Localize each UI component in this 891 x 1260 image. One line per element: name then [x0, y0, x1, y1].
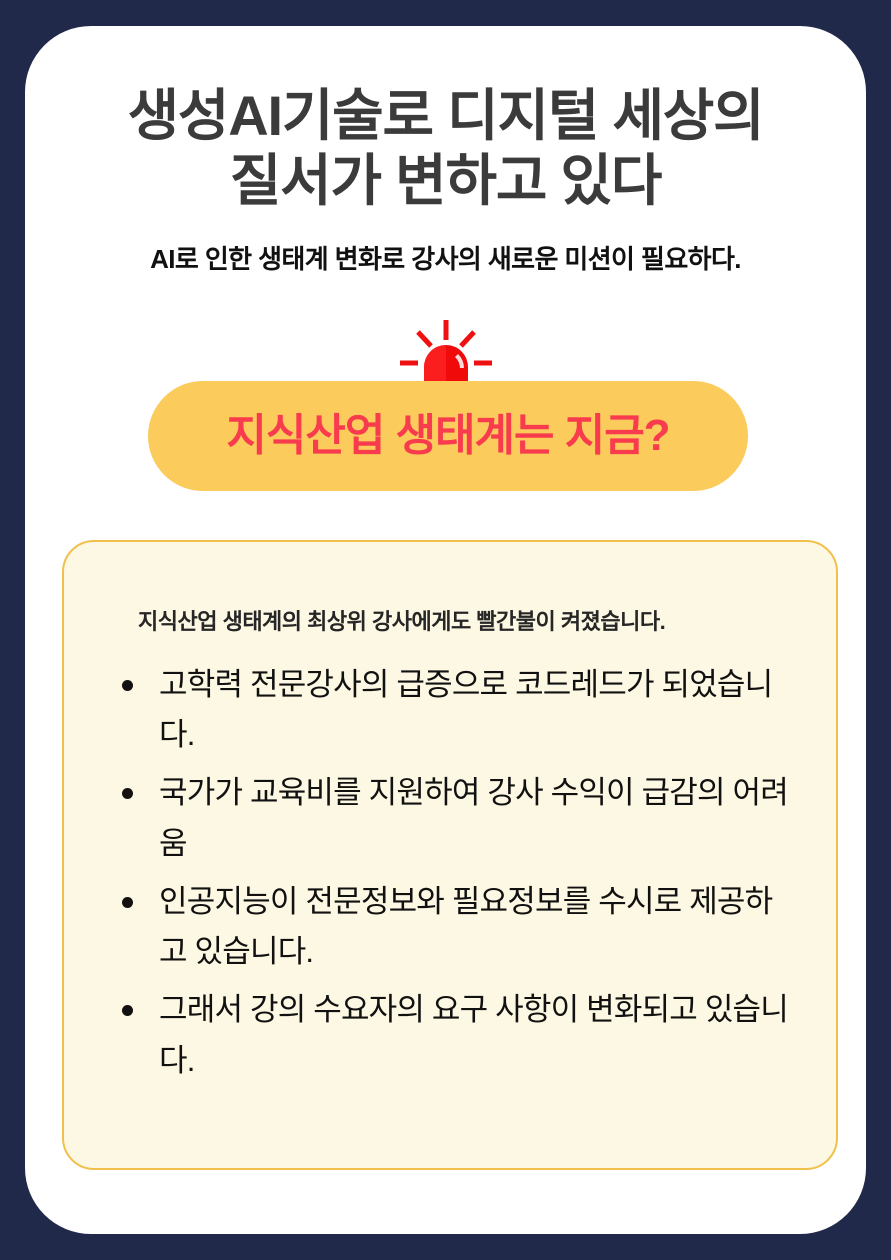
bullet-dot-icon: [122, 680, 133, 691]
list-item-label: 그래서 강의 수요자의 요구 사항이 변화되고 있습니다.: [159, 992, 788, 1077]
poster-page: 생성AI기술로 디지털 세상의 질서가 변하고 있다 AI로 인한 생태계 변화…: [0, 0, 891, 1260]
content-panel: 지식산업 생태계의 최상위 강사에게도 빨간불이 켜졌습니다. 고학력 전문강사…: [62, 540, 838, 1170]
poster-card: 생성AI기술로 디지털 세상의 질서가 변하고 있다 AI로 인한 생태계 변화…: [25, 26, 866, 1234]
bullet-dot-icon: [122, 1005, 133, 1016]
list-item: 고학력 전문강사의 급증으로 코드레드가 되었습니다.: [110, 660, 800, 760]
status-badge-label: 지식산업 생태계는 지금?: [226, 414, 669, 458]
page-subtitle: AI로 인한 생태계 변화로 강사의 새로운 미션이 필요하다.: [25, 239, 866, 276]
bullet-dot-icon: [122, 897, 133, 908]
list-item: 인공지능이 전문정보와 필요정보를 수시로 제공하고 있습니다.: [110, 877, 800, 977]
list-item-label: 고학력 전문강사의 급증으로 코드레드가 되었습니다.: [159, 667, 772, 752]
list-item-label: 국가가 교육비를 지원하여 강사 수익이 급감의 어려움: [159, 775, 788, 860]
list-item-label: 인공지능이 전문정보와 필요정보를 수시로 제공하고 있습니다.: [159, 884, 772, 969]
status-badge: 지식산업 생태계는 지금?: [148, 381, 748, 491]
issue-list: 고학력 전문강사의 급증으로 코드레드가 되었습니다. 국가가 교육비를 지원하…: [110, 660, 800, 1094]
list-item: 국가가 교육비를 지원하여 강사 수익이 급감의 어려움: [110, 768, 800, 868]
bullet-dot-icon: [122, 788, 133, 799]
content-intro-text: 지식산업 생태계의 최상위 강사에게도 빨간불이 켜졌습니다.: [138, 604, 665, 636]
page-title: 생성AI기술로 디지털 세상의 질서가 변하고 있다: [25, 84, 866, 214]
list-item: 그래서 강의 수요자의 요구 사항이 변화되고 있습니다.: [110, 985, 800, 1085]
